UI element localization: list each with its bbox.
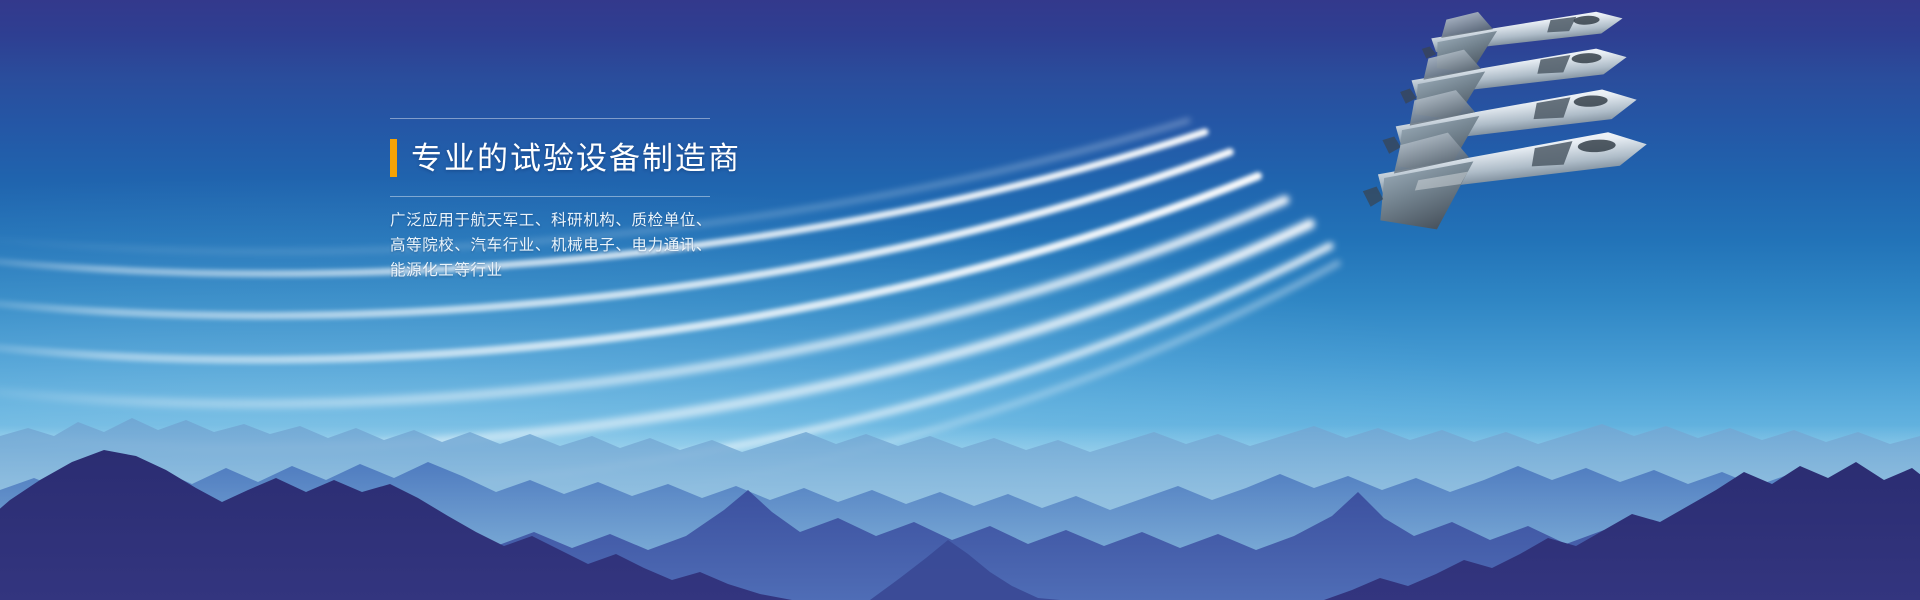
- title-row: 专业的试验设备制造商: [390, 129, 730, 187]
- subtitle-line-2: 高等院校、汽车行业、机械电子、电力通讯、: [390, 233, 730, 258]
- subtitle-line-3: 能源化工等行业: [390, 258, 730, 283]
- divider-bottom: [390, 196, 710, 197]
- headline-block: 专业的试验设备制造商 广泛应用于航天军工、科研机构、质检单位、 高等院校、汽车行…: [390, 118, 730, 283]
- page-title: 专业的试验设备制造商: [411, 143, 741, 174]
- hero-banner: 专业的试验设备制造商 广泛应用于航天军工、科研机构、质检单位、 高等院校、汽车行…: [0, 0, 1920, 600]
- divider-top: [390, 118, 710, 119]
- sky-gradient-background: [0, 0, 1920, 600]
- accent-bar-icon: [390, 139, 397, 177]
- subtitle-block: 广泛应用于航天军工、科研机构、质检单位、 高等院校、汽车行业、机械电子、电力通讯…: [390, 208, 730, 283]
- subtitle-line-1: 广泛应用于航天军工、科研机构、质检单位、: [390, 208, 730, 233]
